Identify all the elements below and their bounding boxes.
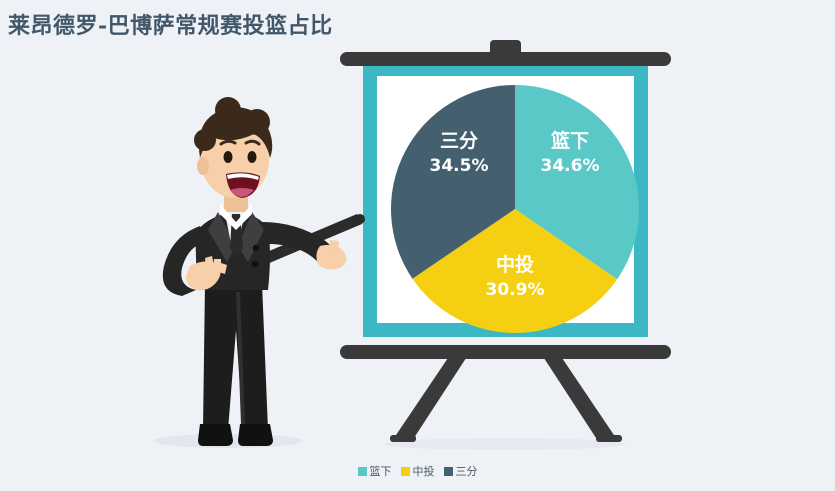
legend-swatch-icon-2 xyxy=(444,467,453,476)
presenter-eye-left-icon xyxy=(224,151,233,163)
legend-label-0: 篮下 xyxy=(370,466,392,477)
presenter-shoe-left xyxy=(198,424,233,446)
chart-legend: 篮下 中投 三分 xyxy=(0,466,835,477)
legend-label-2: 三分 xyxy=(456,466,478,477)
legend-swatch-icon-0 xyxy=(358,467,367,476)
pie-label-name-1: 中投 xyxy=(496,253,534,276)
pie-chart-svg: 篮下 34.6% 中投 30.9% 三分 34.5% xyxy=(384,85,654,330)
legend-item-1[interactable]: 中投 xyxy=(401,466,435,477)
presenter-figure-icon xyxy=(163,97,365,446)
legend-swatch-icon-1 xyxy=(401,467,410,476)
easel-top-knob-icon xyxy=(490,40,521,56)
screenshot-canvas: 莱昂德罗-巴博萨常规赛投篮占比 xyxy=(0,0,835,491)
pie-label-value-1: 30.9% xyxy=(486,280,545,300)
pie-label-name-2: 三分 xyxy=(440,130,478,152)
pie-label-name-0: 篮下 xyxy=(550,129,589,152)
easel-legs-icon xyxy=(390,352,622,442)
legend-label-1: 中投 xyxy=(413,466,435,477)
presenter-eye-right-icon xyxy=(248,151,257,163)
presenter-trousers xyxy=(203,283,268,430)
legend-item-2[interactable]: 三分 xyxy=(444,466,478,477)
pie-label-value-0: 34.6% xyxy=(541,156,600,176)
pie-label-value-2: 34.5% xyxy=(430,156,489,176)
pie-chart: 篮下 34.6% 中投 30.9% 三分 34.5% xyxy=(384,85,654,330)
presenter-shoe-right xyxy=(238,424,273,446)
easel-shadow-icon xyxy=(385,438,625,450)
easel-bottom-rail xyxy=(340,345,671,359)
legend-item-0[interactable]: 篮下 xyxy=(358,466,392,477)
